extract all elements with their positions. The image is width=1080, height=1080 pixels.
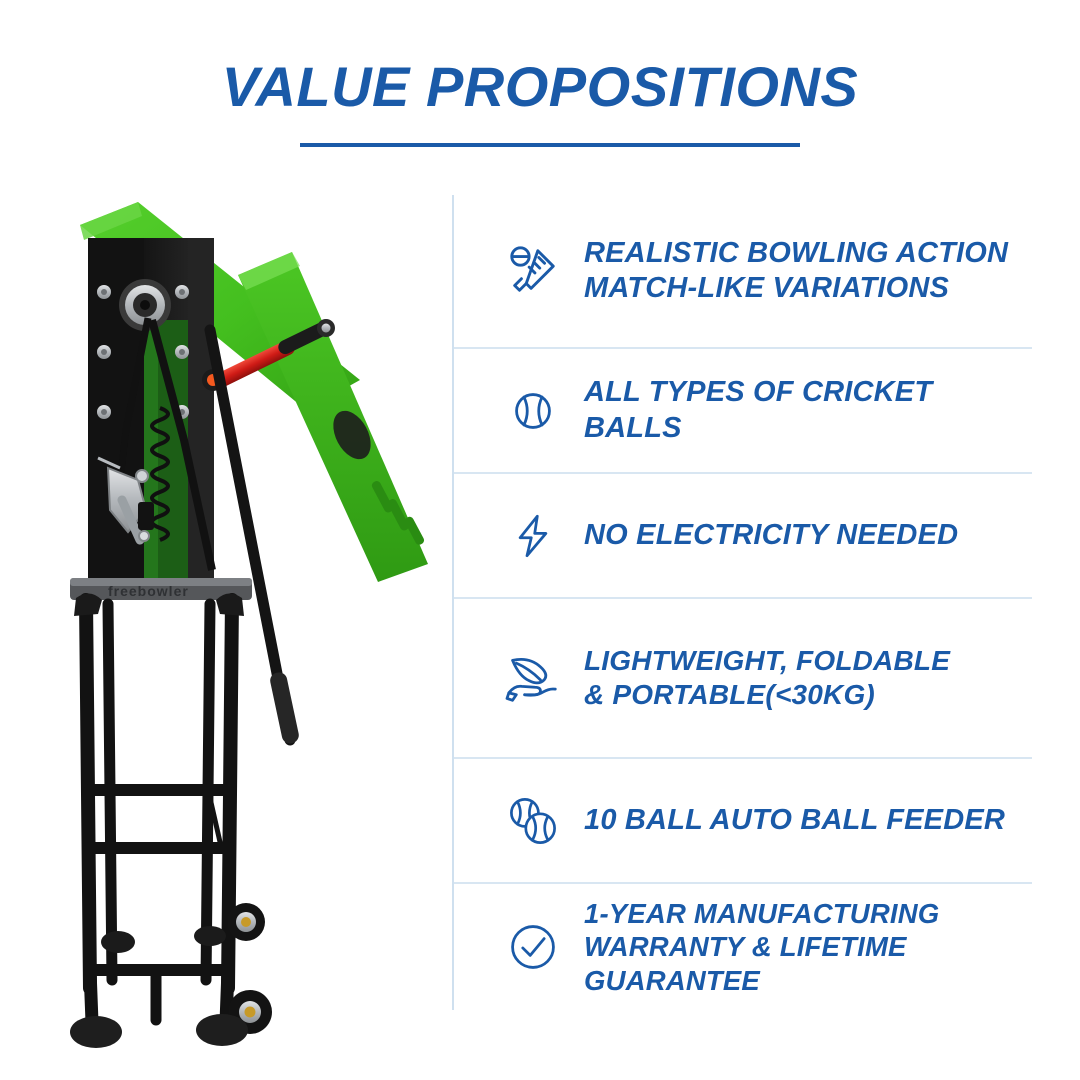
feature-text: 1-YEAR MANUFACTURING WARRANTY & LIFETIME…: [584, 897, 1032, 998]
feature-row-10-ball-auto-feeder: 10 BALL AUTO BALL FEEDER: [454, 757, 1032, 882]
feature-text: REALISTIC BOWLING ACTION MATCH-LIKE VARI…: [584, 236, 1008, 307]
feather-in-hand-icon: [502, 647, 564, 709]
feature-text: ALL TYPES OF CRICKET BALLS: [584, 375, 1032, 446]
feature-row-all-types-of-cricket-balls: ALL TYPES OF CRICKET BALLS: [454, 347, 1032, 472]
lightning-bolt-icon: [502, 505, 564, 567]
value-proposition-list: REALISTIC BOWLING ACTION MATCH-LIKE VARI…: [452, 195, 1032, 1010]
stand-foot-pad-mid-right: [194, 926, 226, 946]
title-underline-rule: [300, 143, 800, 147]
stand-foot-pad-right: [196, 1014, 248, 1046]
feature-text: LIGHTWEIGHT, FOLDABLE & PORTABLE(<30KG): [584, 644, 950, 712]
feature-row-realistic-bowling-action: REALISTIC BOWLING ACTION MATCH-LIKE VARI…: [454, 195, 1032, 347]
feature-row-warranty-guarantee: 1-YEAR MANUFACTURING WARRANTY & LIFETIME…: [454, 882, 1032, 1010]
product-photo: freebowler: [60, 180, 440, 1050]
stand-foot-pad-mid-left: [101, 931, 135, 953]
value-propositions-page: VALUE PROPOSITIONS: [0, 0, 1080, 1080]
feature-row-no-electricity-needed: NO ELECTRICITY NEEDED: [454, 472, 1032, 597]
bowling-machine-illustration: freebowler: [60, 180, 440, 1050]
stand-wheel-upper: [227, 903, 265, 941]
feature-text: 10 BALL AUTO BALL FEEDER: [584, 803, 1005, 838]
stand-foot-pad-left: [70, 1016, 122, 1048]
two-balls-icon: [502, 790, 564, 852]
cricket-bat-ball-icon: [502, 240, 564, 302]
page-title: VALUE PROPOSITIONS: [0, 58, 1080, 117]
stand-corner-cap-left: [74, 593, 102, 616]
machine-handle-grip: [269, 671, 301, 745]
check-circle-icon: [502, 916, 564, 978]
feature-row-lightweight-foldable-portable: LIGHTWEIGHT, FOLDABLE & PORTABLE(<30KG): [454, 597, 1032, 757]
machine-stand: [86, 600, 232, 1022]
cricket-ball-icon: [502, 380, 564, 442]
machine-throwing-arm: [238, 252, 428, 582]
feature-text: NO ELECTRICITY NEEDED: [584, 518, 958, 553]
stand-corner-cap-right: [216, 593, 244, 616]
machine-hub-axle: [140, 300, 150, 310]
brand-wordmark: freebowler: [108, 583, 189, 599]
page-title-block: VALUE PROPOSITIONS: [0, 58, 1080, 117]
